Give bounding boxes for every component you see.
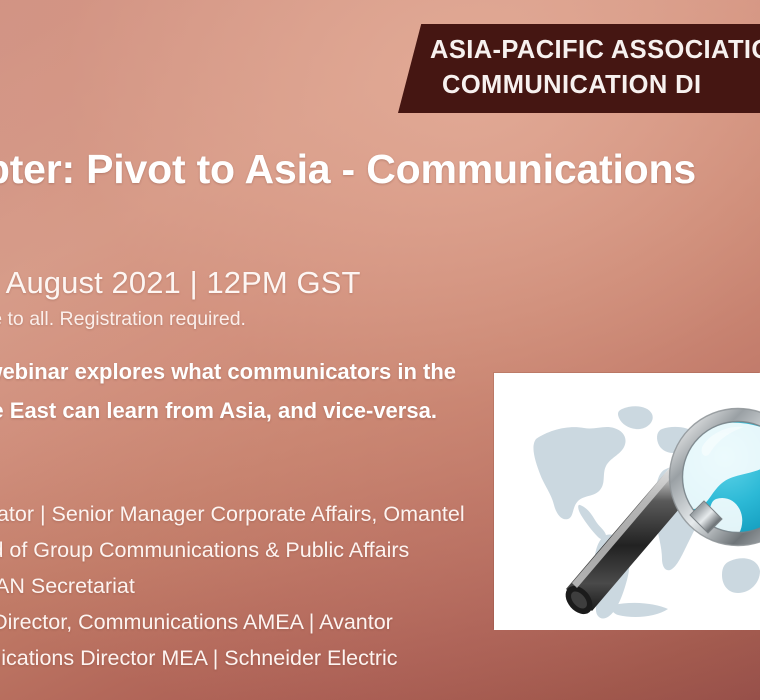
- speaker-line-1: Moderator | Senior Manager Corporate Aff…: [0, 496, 465, 532]
- organization-banner-text: ASIA-PACIFIC ASSOCIATION COMMUNICATION D…: [430, 33, 760, 103]
- page-title: Chapter: Pivot to Asia - Communications: [0, 146, 760, 193]
- organization-banner-line2: COMMUNICATION DI: [442, 68, 760, 103]
- event-description-line1: This webinar explores what communicators…: [0, 352, 456, 391]
- speaker-line-4: Senior Director, Communications AMEA | A…: [0, 604, 465, 640]
- organization-banner: ASIA-PACIFIC ASSOCIATION COMMUNICATION D…: [388, 24, 760, 113]
- speaker-line-3: ASEAN Secretariat: [0, 568, 465, 604]
- world-map-magnifier-image: [494, 373, 760, 630]
- speaker-line-5: Communications Director MEA | Schneider …: [0, 640, 465, 676]
- event-description: This webinar explores what communicators…: [0, 352, 456, 430]
- organization-banner-line1: ASIA-PACIFIC ASSOCIATION: [430, 33, 760, 68]
- event-datetime: 25 August 2021 | 12PM GST: [0, 265, 361, 301]
- world-map-magnifier-svg: [494, 373, 760, 630]
- speaker-line-2: Head of Group Communications & Public Af…: [0, 532, 465, 568]
- event-description-line2: Middle East can learn from Asia, and vic…: [0, 391, 456, 430]
- registration-note: Free to all. Registration required.: [0, 308, 246, 331]
- webinar-poster: ASIA-PACIFIC ASSOCIATION COMMUNICATION D…: [0, 0, 760, 700]
- speaker-list: Moderator | Senior Manager Corporate Aff…: [0, 496, 465, 676]
